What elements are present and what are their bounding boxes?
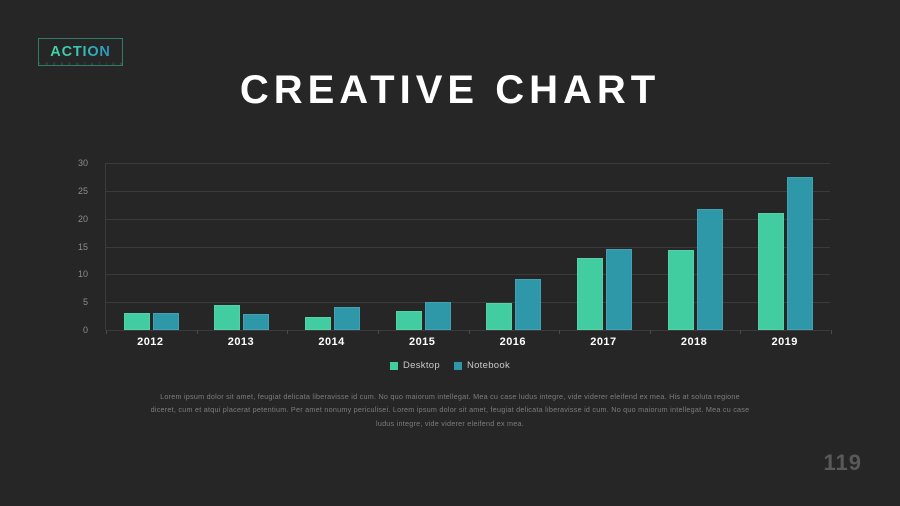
chart-x-label-2012: 2012 — [137, 336, 163, 348]
chart-bar-desktop[interactable] — [577, 258, 603, 330]
chart-x-tick — [106, 330, 107, 334]
legend-item-notebook[interactable]: Notebook — [454, 360, 510, 371]
chart-bar-desktop[interactable] — [124, 313, 150, 330]
slide-root: ACTION P R E S E N T A T I O N CREATIVE … — [0, 0, 900, 506]
chart-y-tick-label: 25 — [58, 186, 88, 196]
chart-bar-desktop[interactable] — [305, 317, 331, 330]
chart-x-tick — [287, 330, 288, 334]
chart-x-label-2013: 2013 — [228, 336, 254, 348]
chart-bar-group[interactable] — [378, 163, 469, 330]
chart-bar-desktop[interactable] — [214, 305, 240, 330]
chart-y-tick-label: 20 — [58, 214, 88, 224]
chart-x-tick — [740, 330, 741, 334]
chart-bar-desktop[interactable] — [668, 250, 694, 330]
chart-bar-group[interactable] — [650, 163, 741, 330]
chart-bar-notebook[interactable] — [334, 307, 360, 330]
chart-x-tick — [831, 330, 832, 334]
chart-x-label-2019: 2019 — [771, 336, 797, 348]
chart-bar-desktop[interactable] — [758, 213, 784, 330]
body-paragraph: Lorem ipsum dolor sit amet, feugiat deli… — [150, 390, 750, 430]
chart-y-tick-label: 0 — [58, 325, 88, 335]
chart-x-label-2016: 2016 — [500, 336, 526, 348]
legend-label: Notebook — [467, 360, 510, 371]
chart-bar-notebook[interactable] — [515, 279, 541, 330]
bar-chart: 051015202530 201220132014201520162017201… — [70, 150, 830, 350]
legend-swatch-icon — [390, 362, 398, 370]
chart-bar-group[interactable] — [106, 163, 197, 330]
chart-x-label-2014: 2014 — [318, 336, 344, 348]
page-number: 119 — [824, 450, 863, 476]
chart-bar-notebook[interactable] — [697, 209, 723, 330]
chart-x-tick — [469, 330, 470, 334]
legend-item-desktop[interactable]: Desktop — [390, 360, 440, 371]
chart-x-tick — [559, 330, 560, 334]
chart-y-tick-label: 15 — [58, 242, 88, 252]
chart-bar-group[interactable] — [197, 163, 288, 330]
chart-bar-group[interactable] — [740, 163, 831, 330]
chart-bar-notebook[interactable] — [787, 177, 813, 330]
chart-legend: DesktopNotebook — [0, 360, 900, 371]
chart-bar-group[interactable] — [287, 163, 378, 330]
chart-x-tick — [378, 330, 379, 334]
chart-bar-notebook[interactable] — [606, 249, 632, 330]
chart-y-tick-label: 10 — [58, 269, 88, 279]
chart-bar-group[interactable] — [559, 163, 650, 330]
chart-bar-desktop[interactable] — [396, 311, 422, 330]
legend-label: Desktop — [403, 360, 440, 371]
page-title: CREATIVE CHART — [0, 68, 900, 112]
chart-x-axis: 20122013201420152016201720182019 — [105, 336, 830, 352]
chart-x-label-2017: 2017 — [590, 336, 616, 348]
chart-y-tick-label: 5 — [58, 297, 88, 307]
chart-plot-area: 051015202530 — [105, 163, 830, 330]
chart-x-tick — [197, 330, 198, 334]
brand-logo-text: ACTION — [50, 45, 110, 60]
chart-y-tick-label: 30 — [58, 158, 88, 168]
chart-bar-notebook[interactable] — [153, 313, 179, 330]
chart-x-tick — [650, 330, 651, 334]
chart-bar-notebook[interactable] — [243, 314, 269, 330]
chart-bar-desktop[interactable] — [486, 303, 512, 330]
chart-bar-group[interactable] — [469, 163, 560, 330]
chart-x-label-2018: 2018 — [681, 336, 707, 348]
chart-x-label-2015: 2015 — [409, 336, 435, 348]
legend-swatch-icon — [454, 362, 462, 370]
brand-logo-subtitle: P R E S E N T A T I O N — [38, 62, 123, 66]
chart-bar-notebook[interactable] — [425, 302, 451, 330]
